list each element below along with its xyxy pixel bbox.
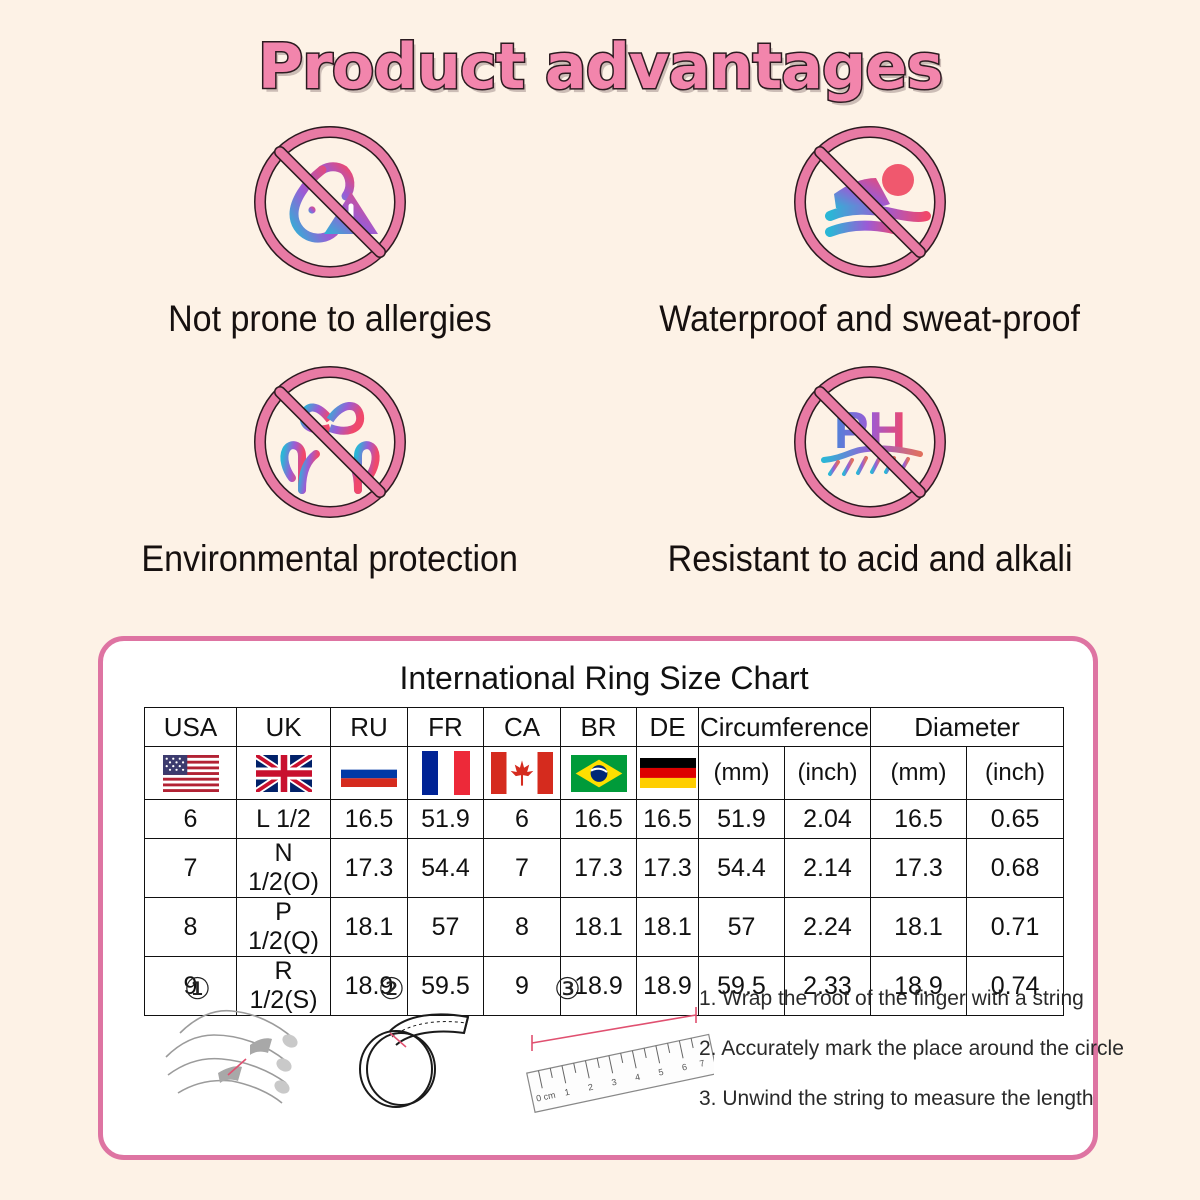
unit-diameter-mm: (mm) [871, 747, 967, 800]
cell-circ-mm: 57 [699, 898, 785, 957]
table-flag-row: (mm) (inch) (mm) (inch) [145, 747, 1064, 800]
cell-circ-mm: 54.4 [699, 839, 785, 898]
table-header-row: USA UK RU FR CA BR DE Circumference Diam… [145, 708, 1064, 747]
step-1-number: ① [184, 973, 211, 1006]
table-row: 7 N 1/2(O) 17.3 54.4 7 17.3 17.3 54.4 2.… [145, 839, 1064, 898]
cell-circ-inch: 2.04 [785, 800, 871, 839]
cell-usa: 8 [145, 898, 237, 957]
step-3-figure: ③ 0 cm 12 34 [514, 971, 714, 1116]
cell-dia-inch: 0.68 [967, 839, 1064, 898]
flag-cell-fr [408, 747, 484, 800]
unit-circumference-inch: (inch) [785, 747, 871, 800]
table-title-row: International Ring Size Chart [145, 649, 1064, 708]
no-water-swimmer-icon [786, 118, 954, 286]
cell-dia-inch: 0.71 [967, 898, 1064, 957]
header-ca: CA [484, 708, 561, 747]
measuring-steps: ① [144, 971, 1063, 1151]
cell-ca: 8 [484, 898, 561, 957]
feature-waterproof-and-sweat-proof: Waterproof and sweat-proof [600, 118, 1140, 358]
cell-ru: 18.1 [331, 898, 408, 957]
france-flag [422, 751, 470, 795]
cell-br: 18.1 [561, 898, 637, 957]
cell-ru: 16.5 [331, 800, 408, 839]
feature-label: Waterproof and sweat-proof [660, 298, 1081, 340]
cell-br: 17.3 [561, 839, 637, 898]
feature-environmental-protection: Environmental protection [60, 358, 600, 598]
header-ru: RU [331, 708, 408, 747]
flag-cell-de [637, 747, 699, 800]
cell-fr: 57 [408, 898, 484, 957]
cell-fr: 54.4 [408, 839, 484, 898]
feature-resistant-to-acid-and-alkali: PH Resistant to acid and alk [600, 358, 1140, 598]
cell-circ-inch: 2.24 [785, 898, 871, 957]
flag-cell-br [561, 747, 637, 800]
russia-flag [341, 761, 397, 787]
header-diameter: Diameter [871, 708, 1064, 747]
step-2-figure: ② [344, 971, 494, 1116]
feature-label: Resistant to acid and alkali [668, 538, 1073, 580]
cell-ca: 6 [484, 800, 561, 839]
instruction-item: 3. Unwind the string to measure the leng… [699, 1087, 1099, 1111]
header-usa: USA [145, 708, 237, 747]
cell-de: 16.5 [637, 800, 699, 839]
brazil-flag [571, 755, 627, 792]
page-title: Product advantages [0, 30, 1200, 103]
germany-flag [640, 758, 696, 788]
ring-size-chart-card: International Ring Size Chart USA UK RU … [98, 636, 1098, 1160]
step-2-number: ② [378, 973, 405, 1006]
flag-cell-usa [145, 747, 237, 800]
cell-dia-inch: 0.65 [967, 800, 1064, 839]
usa-flag [163, 755, 219, 792]
flag-cell-ru [331, 747, 408, 800]
hands-sprout-icon [246, 358, 414, 526]
header-circumference: Circumference [699, 708, 871, 747]
header-uk: UK [237, 708, 331, 747]
cell-ca: 7 [484, 839, 561, 898]
cell-uk: N 1/2(O) [237, 839, 331, 898]
table-row: 8 P 1/2(Q) 18.1 57 8 18.1 18.1 57 2.24 1… [145, 898, 1064, 957]
cell-usa: 7 [145, 839, 237, 898]
feature-not-prone-to-allergies: Not prone to allergies [60, 118, 600, 358]
no-allergy-icon [246, 118, 414, 286]
feature-label: Not prone to allergies [168, 298, 492, 340]
cell-circ-mm: 51.9 [699, 800, 785, 839]
features-grid: Not prone to allergies [60, 118, 1140, 598]
unit-circumference-mm: (mm) [699, 747, 785, 800]
uk-flag [256, 755, 312, 792]
table-row: 6 L 1/2 16.5 51.9 6 16.5 16.5 51.9 2.04 … [145, 800, 1064, 839]
cell-dia-mm: 18.1 [871, 898, 967, 957]
cell-dia-mm: 17.3 [871, 839, 967, 898]
unit-diameter-inch: (inch) [967, 747, 1064, 800]
instruction-item: 2. Accurately mark the place around the … [699, 1037, 1099, 1061]
feature-label: Environmental protection [142, 538, 519, 580]
header-de: DE [637, 708, 699, 747]
cell-ru: 17.3 [331, 839, 408, 898]
step-3-number: ③ [554, 973, 581, 1006]
cell-de: 17.3 [637, 839, 699, 898]
header-fr: FR [408, 708, 484, 747]
cell-fr: 51.9 [408, 800, 484, 839]
header-br: BR [561, 708, 637, 747]
flag-cell-ca [484, 747, 561, 800]
instruction-item: 1. Wrap the root of the finger with a st… [699, 987, 1099, 1011]
cell-de: 18.1 [637, 898, 699, 957]
flag-cell-uk [237, 747, 331, 800]
cell-uk: P 1/2(Q) [237, 898, 331, 957]
canada-flag [491, 752, 553, 794]
step-1-figure: ① [162, 971, 312, 1116]
cell-br: 16.5 [561, 800, 637, 839]
instructions-list: 1. Wrap the root of the finger with a st… [699, 987, 1099, 1137]
cell-dia-mm: 16.5 [871, 800, 967, 839]
chart-title: International Ring Size Chart [145, 649, 1064, 708]
no-ph-icon: PH [786, 358, 954, 526]
cell-circ-inch: 2.14 [785, 839, 871, 898]
international-ring-size-table: International Ring Size Chart USA UK RU … [144, 649, 1064, 1016]
cell-usa: 6 [145, 800, 237, 839]
cell-uk: L 1/2 [237, 800, 331, 839]
